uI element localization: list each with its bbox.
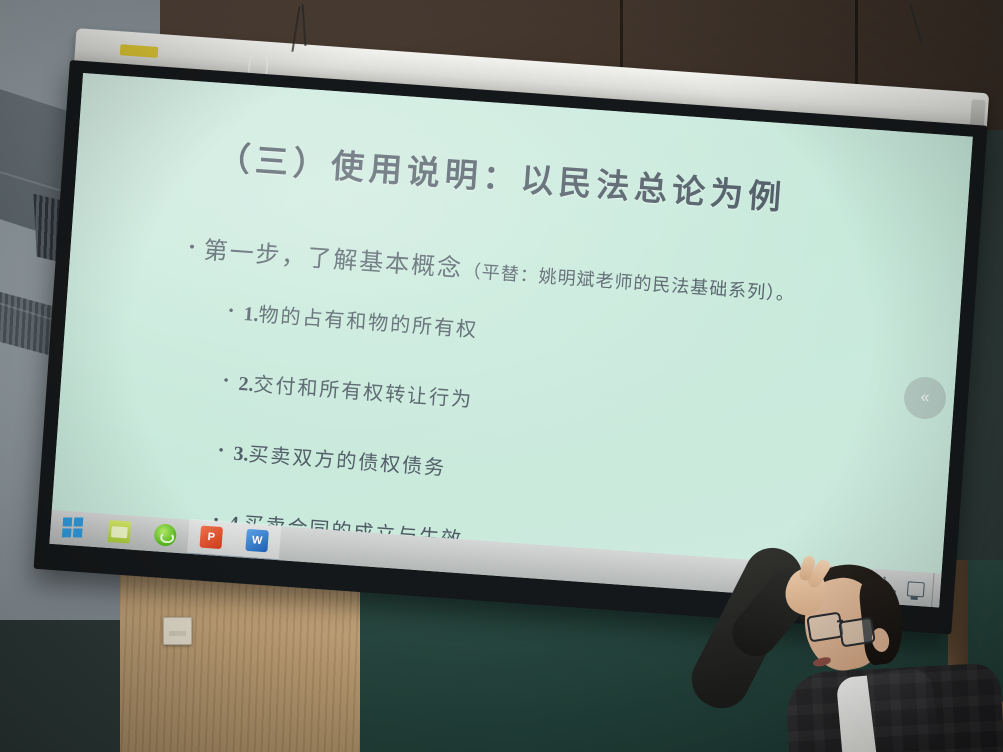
green-circle-icon (154, 523, 178, 547)
powerpoint-icon: P (199, 526, 223, 550)
bullet-marker-icon: • (228, 303, 236, 320)
list-item: •2.交付和所有权转让行为 (222, 366, 922, 445)
folder-icon (108, 520, 132, 544)
bullet-level1-note: （平替：姚明斌老师的民法基础系列）。 (462, 261, 796, 305)
powerpoint-button[interactable]: P (187, 519, 235, 558)
list-item-label: 买卖双方的债权债务 (248, 444, 447, 480)
word-button[interactable]: W (233, 522, 281, 561)
classroom-scene: （三）使用说明：以民法总论为例 •第一步，了解基本概念（平替：姚明斌老师的民法基… (0, 0, 1003, 752)
list-item: •3.买卖双方的债权债务 (217, 436, 917, 515)
wechat-button[interactable] (141, 516, 189, 553)
bullet-marker-icon: • (223, 373, 231, 390)
file-explorer-button[interactable] (95, 513, 143, 550)
instructor-forearm (723, 559, 823, 665)
presentation-slide: （三）使用说明：以民法总论为例 •第一步，了解基本概念（平替：姚明斌老师的民法基… (52, 73, 973, 574)
bullet-level1-text: 第一步，了解基本概念 (203, 238, 464, 283)
slide-content: （三）使用说明：以民法总论为例 •第一步，了解基本概念（平替：姚明斌老师的民法基… (52, 73, 973, 574)
roller-warning-label (120, 44, 159, 58)
instructor (690, 520, 1003, 752)
wall-switch-plate[interactable] (163, 617, 192, 645)
list-item-label: 交付和所有权转让行为 (253, 374, 474, 412)
instructor-jacket-pattern (785, 662, 1003, 752)
list-item: •1.物的占有和物的所有权 (227, 296, 927, 375)
bullet-marker-icon: • (218, 443, 226, 460)
windows-logo-icon (62, 517, 86, 539)
bullet-marker-icon: • (188, 237, 197, 258)
slide-title: （三）使用说明：以民法总论为例 (216, 131, 788, 220)
word-icon: W (245, 529, 269, 553)
instructor-glasses-right (838, 617, 876, 648)
list-item-label: 物的占有和物的所有权 (258, 304, 479, 342)
start-button[interactable] (49, 510, 97, 547)
bullet-level1: •第一步，了解基本概念（平替：姚明斌老师的民法基础系列）。 (188, 229, 797, 307)
